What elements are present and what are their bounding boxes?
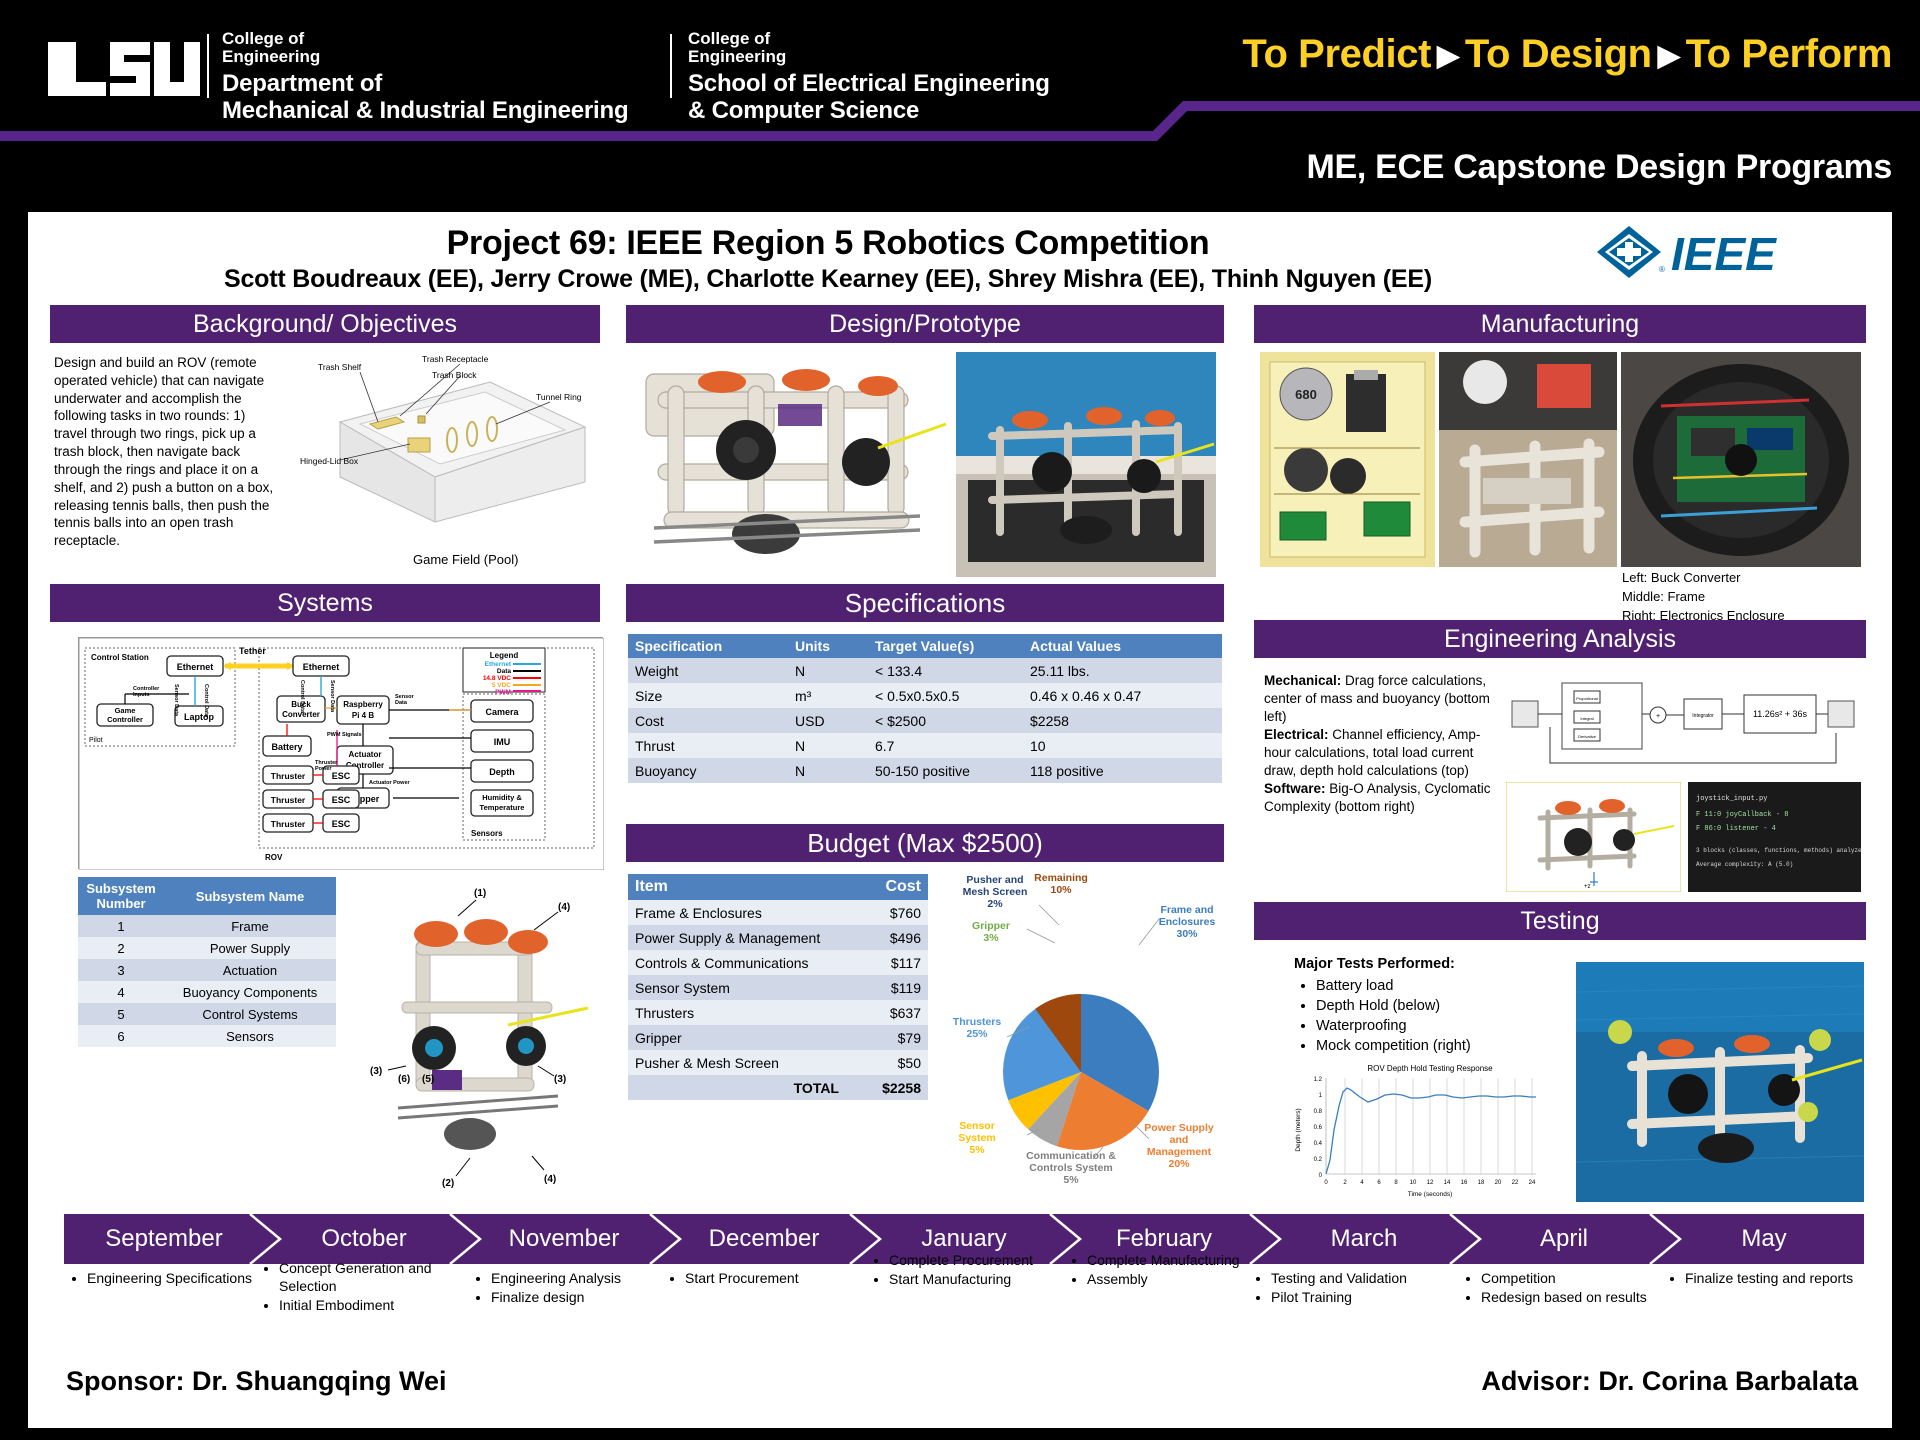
systems-diagram: Control Station Pilot ROV Ethernet Game … (78, 637, 603, 869)
section-bar-budget: Budget (Max $2500) (626, 824, 1224, 862)
cell: Sensors (164, 1025, 336, 1047)
svg-text:Depth: Depth (489, 767, 515, 777)
svg-text:(4): (4) (558, 902, 570, 913)
table-row: ThrustN6.710 (628, 733, 1222, 758)
table-row: 6Sensors (78, 1025, 336, 1047)
timeline-month-march: March (1264, 1214, 1464, 1264)
svg-text:Thruster: Thruster (271, 795, 306, 805)
section-title-background: Background/ Objectives (193, 310, 457, 338)
list-item: Finalize design (491, 1289, 678, 1307)
cell: Size (628, 683, 788, 708)
specifications-table: Specification Units Target Value(s) Actu… (628, 634, 1222, 783)
dept1-line1: College of (222, 30, 628, 48)
cell: Weight (628, 658, 788, 683)
ieee-logo: IEEE ® (1589, 222, 1834, 284)
timeline-tasks-december: Start Procurement (672, 1270, 862, 1289)
cell: Thrusters (628, 1000, 846, 1025)
svg-text:30%: 30% (1176, 928, 1198, 940)
svg-text:0.8: 0.8 (1314, 1109, 1323, 1115)
svg-text:Trash Shelf: Trash Shelf (318, 362, 362, 372)
section-bar-testing: Testing (1254, 902, 1866, 940)
code-line-1: joystick_input.py (1696, 795, 1767, 803)
svg-text:Actuator: Actuator (349, 750, 382, 759)
svg-text:Data: Data (497, 668, 511, 675)
svg-text:1.2: 1.2 (1314, 1077, 1323, 1083)
cell: N (788, 658, 868, 683)
header-divider-2 (670, 34, 672, 98)
cell: N (788, 733, 868, 758)
section-title-specifications: Specifications (845, 588, 1005, 618)
cell: 6 (78, 1025, 164, 1047)
svg-text:(1): (1) (474, 888, 486, 899)
manufacturing-caption-2: Middle: Frame (1622, 589, 1705, 606)
timeline-tasks-may: Finalize testing and reports (1672, 1270, 1862, 1289)
table-row: Power Supply & Management$496 (628, 925, 928, 950)
svg-text:Sensor Data: Sensor Data (329, 680, 335, 713)
cell: 1 (78, 915, 164, 937)
cell: N (788, 758, 868, 783)
svg-text:Ethernet: Ethernet (303, 662, 340, 672)
timeline-tasks-january: Complete Procurement Start Manufacturing (876, 1252, 1056, 1290)
svg-text:Data: Data (395, 700, 408, 706)
spec-col-target: Target Value(s) (868, 634, 1023, 658)
svg-text:Sensors: Sensors (471, 829, 503, 838)
mechanical-label: Mechanical: (1264, 673, 1341, 688)
cell: 6.7 (868, 733, 1023, 758)
section-bar-systems: Systems (50, 584, 600, 622)
code-line-5: Average complexity: A (5.0) (1696, 861, 1793, 868)
svg-text:12: 12 (1427, 1180, 1434, 1186)
svg-text:Integrator: Integrator (1692, 713, 1714, 719)
page-header: College of Engineering Department of Mec… (0, 0, 1920, 210)
cell: Actuation (164, 959, 336, 981)
sponsor-label: Sponsor: Dr. Shuangqing Wei (66, 1366, 447, 1397)
cell: < 0.5x0.5x0.5 (868, 683, 1023, 708)
svg-text:(3): (3) (554, 1074, 566, 1085)
table-row: 5Control Systems (78, 1003, 336, 1025)
svg-text:Humidity &: Humidity & (482, 793, 522, 802)
timeline-tasks-november: Engineering Analysis Finalize design (478, 1270, 678, 1308)
header-purple-swoosh (0, 100, 1920, 142)
cell: m³ (788, 683, 868, 708)
list-item: Finalize testing and reports (1685, 1270, 1862, 1288)
svg-text:Battery: Battery (271, 742, 302, 752)
svg-text:®: ® (1659, 265, 1665, 274)
timeline-month-december: December (664, 1214, 864, 1264)
svg-text:Thrusters: Thrusters (953, 1016, 1002, 1028)
svg-text:Remaining: Remaining (1034, 872, 1088, 884)
depth-chart-xlabel: Time (seconds) (1408, 1191, 1453, 1198)
dept2-line1: College of (688, 30, 1050, 48)
svg-text:Temperature: Temperature (480, 803, 525, 812)
svg-text:0.4: 0.4 (1314, 1141, 1323, 1147)
table-row: 1Frame (78, 915, 336, 937)
testing-heading: Major Tests Performed: (1294, 956, 1455, 972)
section-title-engineering-analysis: Engineering Analysis (1444, 625, 1676, 653)
subsystem-table: Subsystem Number Subsystem Name 1Frame 2… (78, 877, 336, 1047)
cell: $496 (846, 925, 928, 950)
svg-text:(3): (3) (370, 1066, 382, 1077)
cell: Sensor System (628, 975, 846, 1000)
list-item: Redesign based on results (1481, 1289, 1658, 1307)
section-title-testing: Testing (1520, 907, 1599, 935)
svg-text:10: 10 (1410, 1180, 1417, 1186)
code-line-4: 3 blocks (classes, functions, methods) a… (1696, 847, 1861, 854)
svg-text:Tunnel Ring: Tunnel Ring (536, 392, 582, 402)
subsystem-col-name: Subsystem Name (164, 877, 336, 915)
frame-photo (1439, 352, 1617, 567)
cell: 10 (1023, 733, 1222, 758)
table-row: 2Power Supply (78, 937, 336, 959)
table-row: WeightN< 133.425.11 lbs. (628, 658, 1222, 683)
svg-text:Integral: Integral (1580, 716, 1593, 721)
table-row: CostUSD< $2500$2258 (628, 708, 1222, 733)
game-field-caption: Game Field (Pool) (413, 552, 518, 569)
budget-total-value: $2258 (846, 1075, 928, 1100)
timeline-month-november: November (464, 1214, 664, 1264)
tagline-design: To Design (1465, 32, 1652, 76)
subsystem-table-header: Subsystem Number Subsystem Name (78, 877, 336, 915)
transfer-function-value: 11.26s² + 36s (1753, 709, 1808, 719)
cell: < $2500 (868, 708, 1023, 733)
lsu-logo (46, 38, 201, 100)
list-item: Competition (1481, 1270, 1658, 1288)
section-title-design: Design/Prototype (829, 310, 1021, 338)
code-line-3: F 86:0 listener - 4 (1696, 825, 1776, 833)
cell: $760 (846, 900, 928, 925)
svg-text:Game: Game (115, 706, 136, 715)
cell: $117 (846, 950, 928, 975)
page-title: Project 69: IEEE Region 5 Robotics Compe… (28, 224, 1628, 263)
svg-text:5%: 5% (969, 1144, 985, 1156)
svg-text:Sensor: Sensor (959, 1120, 995, 1132)
cell: 5 (78, 1003, 164, 1025)
list-item: Complete Procurement (889, 1252, 1056, 1270)
list-item: Testing and Validation (1271, 1270, 1458, 1288)
cell: Pusher & Mesh Screen (628, 1050, 846, 1075)
section-bar-specifications: Specifications (626, 584, 1224, 622)
list-item: Start Manufacturing (889, 1271, 1056, 1289)
dept2-line2: Engineering (688, 48, 1050, 66)
poster-body: Project 69: IEEE Region 5 Robotics Compe… (28, 212, 1892, 1428)
svg-text:(6): (6) (398, 1074, 410, 1085)
tagline-perform: To Perform (1686, 32, 1892, 76)
svg-text:Raspberry: Raspberry (343, 700, 383, 709)
svg-text:and: and (1170, 1134, 1189, 1146)
svg-text:Enclosures: Enclosures (1159, 916, 1216, 928)
cell: $637 (846, 1000, 928, 1025)
program-title: ME, ECE Capstone Design Programs (1306, 148, 1892, 187)
underwater-test-photo (1576, 962, 1864, 1202)
svg-text:Thruster: Thruster (271, 819, 306, 829)
svg-text:(2): (2) (442, 1178, 454, 1189)
svg-text:Thruster: Thruster (271, 771, 306, 781)
budget-header-row: Item Cost (628, 874, 928, 900)
svg-text:ESC: ESC (332, 771, 351, 781)
svg-text:Trash Block: Trash Block (432, 370, 477, 380)
author-list: Scott Boudreaux (EE), Jerry Crowe (ME), … (28, 265, 1628, 294)
svg-text:Power Supply: Power Supply (1144, 1122, 1214, 1134)
table-row: 3Actuation (78, 959, 336, 981)
svg-text:Camera: Camera (485, 707, 519, 717)
spec-col-specification: Specification (628, 634, 788, 658)
testing-list: Battery load Depth Hold (below) Waterpro… (1316, 976, 1471, 1056)
timeline-month-may: May (1664, 1214, 1864, 1264)
cell: Frame & Enclosures (628, 900, 846, 925)
svg-text:ROV: ROV (265, 853, 283, 862)
manufacturing-caption-1: Left: Buck Converter (1622, 570, 1741, 587)
timeline-tasks-april: Competition Redesign based on results (1468, 1270, 1658, 1308)
svg-text:IEEE: IEEE (1671, 228, 1777, 280)
svg-text:Ethernet: Ethernet (485, 661, 512, 668)
timeline-month-october: October (264, 1214, 464, 1264)
svg-text:10%: 10% (1050, 884, 1072, 896)
list-item: Pilot Training (1271, 1289, 1458, 1307)
svg-text:Actuator Power: Actuator Power (369, 780, 411, 786)
table-row: Controls & Communications$117 (628, 950, 928, 975)
electronics-enclosure-photo (1621, 352, 1861, 567)
svg-text:Communication &: Communication & (1026, 1150, 1116, 1162)
svg-text:25%: 25% (966, 1028, 988, 1040)
svg-text:Sensor Data: Sensor Data (173, 684, 179, 717)
svg-text:14.8 VDC: 14.8 VDC (483, 675, 511, 682)
budget-total-label: TOTAL (628, 1075, 846, 1100)
svg-text:Pusher and: Pusher and (966, 874, 1023, 886)
svg-text:System: System (958, 1132, 995, 1144)
svg-text:Controller: Controller (107, 715, 143, 724)
svg-text:+: + (1656, 713, 1660, 720)
svg-text:Ethernet: Ethernet (177, 662, 214, 672)
list-item: Initial Embodiment (279, 1297, 466, 1315)
budget-col-item: Item (628, 874, 846, 900)
cell: Thrust (628, 733, 788, 758)
cell: Controls & Communications (628, 950, 846, 975)
svg-text:5 VDC: 5 VDC (492, 682, 511, 689)
table-row: 4Buoyancy Components (78, 981, 336, 1003)
specifications-header-row: Specification Units Target Value(s) Actu… (628, 634, 1222, 658)
timeline-month-april: April (1464, 1214, 1664, 1264)
cell: Gripper (628, 1025, 846, 1050)
cell: 25.11 lbs. (1023, 658, 1222, 683)
svg-text:Pi 4 B: Pi 4 B (352, 711, 374, 720)
timeline-tasks-september: Engineering Specifications (74, 1270, 254, 1289)
list-item: Concept Generation and Selection (279, 1260, 466, 1296)
dept2-line3: School of Electrical Engineering (688, 70, 1050, 97)
electrical-label: Electrical: (1264, 727, 1329, 742)
code-line-2: F 11:0 joyCallback - 8 (1696, 811, 1788, 819)
svg-text:Mesh Screen: Mesh Screen (963, 886, 1028, 898)
dept1-line3: Department of (222, 70, 628, 97)
svg-text:Inputs: Inputs (133, 692, 150, 698)
svg-text:Proportional: Proportional (1576, 696, 1598, 701)
svg-text:Frame and: Frame and (1160, 904, 1213, 916)
list-item: Assembly (1087, 1271, 1254, 1289)
cad-model-image (628, 352, 948, 577)
arrow-icon-1: ▶ (1431, 40, 1465, 72)
table-row: Frame & Enclosures$760 (628, 900, 928, 925)
arrow-icon-2: ▶ (1652, 40, 1686, 72)
table-row: Gripper$79 (628, 1025, 928, 1050)
svg-text:Gripper: Gripper (972, 920, 1010, 932)
rov-annotated-figure: (1) (4) (3) (3) (2) (4) (6) (5) (358, 870, 608, 1200)
budget-col-cost: Cost (846, 874, 928, 900)
svg-text:Pilot: Pilot (89, 737, 103, 744)
table-row: Sizem³< 0.5x0.5x0.50.46 x 0.46 x 0.47 (628, 683, 1222, 708)
svg-text:IMU: IMU (494, 737, 511, 747)
section-bar-engineering-analysis: Engineering Analysis (1254, 620, 1866, 658)
code-complexity-figure: joystick_input.py F 11:0 joyCallback - 8… (1688, 782, 1861, 892)
list-item: Battery load (1316, 976, 1471, 996)
svg-text:0.2: 0.2 (1314, 1157, 1323, 1163)
cell: 0.46 x 0.46 x 0.47 (1023, 683, 1222, 708)
svg-text:14: 14 (1444, 1180, 1451, 1186)
cell: Power Supply (164, 937, 336, 959)
list-item: Start Procurement (685, 1270, 862, 1288)
cell: $119 (846, 975, 928, 1000)
section-title-systems: Systems (277, 589, 373, 617)
table-row: BuoyancyN50-150 positive118 positive (628, 758, 1222, 783)
svg-text:Control Station: Control Station (91, 653, 149, 662)
depth-chart-ylabel: Depth (meters) (1295, 1108, 1302, 1151)
cell: $79 (846, 1025, 928, 1050)
svg-text:Derivative: Derivative (1578, 734, 1597, 739)
list-item: Mock competition (right) (1316, 1036, 1471, 1056)
game-field-figure: Trash Shelf Trash Receptacle Trash Block… (300, 352, 595, 557)
svg-text:20: 20 (1495, 1180, 1502, 1186)
cell: Buoyancy (628, 758, 788, 783)
table-row: Thrusters$637 (628, 1000, 928, 1025)
depth-hold-chart: ROV Depth Hold Testing Response 1.2 1 0.… (1290, 1060, 1558, 1202)
svg-text:(4): (4) (544, 1174, 556, 1185)
cell: 3 (78, 959, 164, 981)
tagline: To Predict▶To Design▶To Perform (1242, 32, 1892, 77)
svg-text:PWM: PWM (495, 689, 511, 696)
drag-analysis-figure: +z (1506, 782, 1681, 892)
section-title-budget: Budget (Max $2500) (807, 828, 1043, 858)
svg-text:24: 24 (1529, 1180, 1536, 1186)
svg-text:2%: 2% (987, 898, 1003, 910)
svg-text:Control Data: Control Data (203, 684, 209, 718)
timeline-tasks-october: Concept Generation and Selection Initial… (266, 1260, 466, 1316)
cell: 50-150 positive (868, 758, 1023, 783)
budget-total-row: TOTAL $2258 (628, 1075, 928, 1100)
svg-text:Control Data: Control Data (299, 680, 305, 714)
svg-text:5%: 5% (1063, 1174, 1079, 1186)
cell: USD (788, 708, 868, 733)
section-title-manufacturing: Manufacturing (1481, 310, 1639, 338)
section-bar-background: Background/ Objectives (50, 305, 600, 343)
table-row: Pusher & Mesh Screen$50 (628, 1050, 928, 1075)
timeline-tasks-march: Testing and Validation Pilot Training (1258, 1270, 1458, 1308)
svg-text:Legend: Legend (490, 651, 519, 660)
spec-col-units: Units (788, 634, 868, 658)
svg-text:20%: 20% (1168, 1158, 1190, 1170)
cell: Control Systems (164, 1003, 336, 1025)
header-divider-1 (207, 34, 209, 98)
svg-text:18: 18 (1478, 1180, 1485, 1186)
section-bar-design: Design/Prototype (626, 305, 1224, 343)
list-item: Depth Hold (below) (1316, 996, 1471, 1016)
list-item: Waterproofing (1316, 1016, 1471, 1036)
svg-text:(5): (5) (422, 1074, 434, 1085)
software-label: Software: (1264, 781, 1326, 796)
budget-pie-chart: Pusher and Mesh Screen 2% Gripper 3% Thr… (943, 867, 1225, 1197)
section-bar-manufacturing: Manufacturing (1254, 305, 1866, 343)
budget-table: Item Cost Frame & Enclosures$760 Power S… (628, 874, 928, 1100)
depth-chart-title: ROV Depth Hold Testing Response (1367, 1064, 1493, 1073)
cell: 2 (78, 937, 164, 959)
svg-text:0.6: 0.6 (1314, 1125, 1323, 1131)
svg-text:Trash Receptacle: Trash Receptacle (422, 354, 489, 364)
timeline-tasks-february: Complete Manufacturing Assembly (1074, 1252, 1254, 1290)
cell: Cost (628, 708, 788, 733)
cell: $2258 (1023, 708, 1222, 733)
svg-text:ESC: ESC (332, 819, 351, 829)
cell: 4 (78, 981, 164, 1003)
cell: < 133.4 (868, 658, 1023, 683)
block-diagram-figure: Proportional Integral Derivative + Integ… (1506, 667, 1861, 777)
background-text: Design and build an ROV (remote operated… (54, 354, 279, 550)
list-item: Engineering Specifications (87, 1270, 254, 1288)
svg-text:680: 680 (1295, 387, 1317, 402)
list-item: Engineering Analysis (491, 1270, 678, 1288)
tagline-predict: To Predict (1242, 32, 1431, 76)
cell: Power Supply & Management (628, 925, 846, 950)
svg-text:PWM Signals: PWM Signals (327, 732, 362, 738)
cell: 118 positive (1023, 758, 1222, 783)
list-item: Complete Manufacturing (1087, 1252, 1254, 1270)
prototype-photo (956, 352, 1216, 577)
svg-text:Management: Management (1147, 1146, 1212, 1158)
svg-text:Hinged-Lid Box: Hinged-Lid Box (300, 456, 359, 466)
subsystem-col-number: Subsystem Number (78, 877, 164, 915)
svg-text:3%: 3% (983, 932, 999, 944)
table-row: Sensor System$119 (628, 975, 928, 1000)
svg-text:Tether: Tether (239, 646, 266, 656)
svg-text:Power: Power (315, 766, 332, 772)
svg-text:ESC: ESC (332, 795, 351, 805)
dept1-line2: Engineering (222, 48, 628, 66)
cell: $50 (846, 1050, 928, 1075)
engineering-analysis-text: Mechanical: Drag force calculations, cen… (1264, 672, 1494, 816)
svg-text:Controls System: Controls System (1029, 1162, 1112, 1174)
cell: Buoyancy Components (164, 981, 336, 1003)
spec-col-actual: Actual Values (1023, 634, 1222, 658)
buck-converter-photo: 680 (1260, 352, 1435, 567)
svg-text:16: 16 (1461, 1180, 1468, 1186)
svg-text:22: 22 (1512, 1180, 1519, 1186)
cell: Frame (164, 915, 336, 937)
timeline-month-september: September (64, 1214, 264, 1264)
svg-text:+z: +z (1584, 884, 1591, 890)
advisor-label: Advisor: Dr. Corina Barbalata (1481, 1366, 1858, 1397)
